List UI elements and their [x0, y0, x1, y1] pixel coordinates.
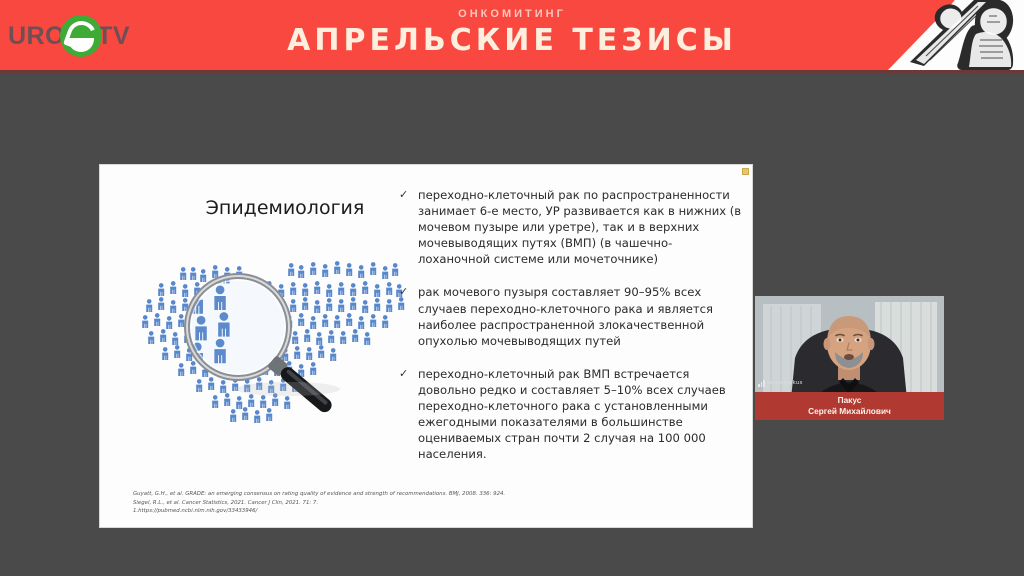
- connection-stats: sergeipakus: [758, 380, 803, 387]
- reference-line: Guyatt, G.H., et al. GRADE: an emerging …: [133, 490, 693, 498]
- bullet-text: переходно-клеточный рак ВМП встречается …: [418, 366, 742, 463]
- event-title: АПРЕЛЬСКИЕ ТЕЗИСЫ: [0, 24, 1024, 57]
- reference-line: Siegel, R.L., et al. Cancer Statistics, …: [133, 499, 693, 507]
- bullet-text: переходно-клеточный рак по распространен…: [418, 187, 742, 267]
- event-kicker: ОНКОМИТИНГ: [0, 8, 1024, 21]
- signal-bars-icon: [758, 380, 765, 387]
- slide-references: Guyatt, G.H., et al. GRADE: an emerging …: [133, 490, 693, 515]
- bullet-item: ✓ рак мочевого пузыря составляет 90–95% …: [397, 284, 742, 348]
- resize-handle-icon[interactable]: [742, 168, 749, 175]
- bullet-item: ✓ переходно-клеточный рак по распростран…: [397, 187, 742, 267]
- event-title-group: ОНКОМИТИНГ АПРЕЛЬСКИЕ ТЕЗИСЫ: [0, 8, 1024, 57]
- constructivist-worker-icon: [880, 0, 1024, 70]
- speaker-video-tile[interactable]: sergeipakus Пакус Сергей Михайлович: [755, 296, 944, 420]
- checkmark-icon: ✓: [399, 285, 408, 299]
- speaker-username: sergeipakus: [767, 380, 803, 387]
- speaker-surname: Пакус: [838, 395, 862, 406]
- presentation-slide[interactable]: Эпидемиология: [100, 165, 752, 527]
- slide-title: Эпидемиология: [160, 197, 410, 219]
- speaker-given-name: Сергей Михайлович: [808, 406, 891, 417]
- crowd-magnifier-icon: [138, 253, 410, 423]
- webinar-stage: URO TV ОНКОМИТИНГ АПРЕЛЬСКИЕ ТЕЗИСЫ: [0, 0, 1024, 576]
- checkmark-icon: ✓: [399, 188, 408, 202]
- header-divider: [0, 70, 1024, 73]
- bullet-item: ✓ переходно-клеточный рак ВМП встречаетс…: [397, 366, 742, 463]
- bullet-text: рак мочевого пузыря составляет 90–95% вс…: [418, 284, 742, 348]
- event-header-bar: URO TV ОНКОМИТИНГ АПРЕЛЬСКИЕ ТЕЗИСЫ: [0, 0, 1024, 70]
- reference-line: 1.https://pubmed.ncbi.nlm.nih.gov/334339…: [133, 507, 693, 515]
- speaker-name-badge: Пакус Сергей Михайлович: [755, 392, 944, 420]
- checkmark-icon: ✓: [399, 367, 408, 381]
- slide-bullet-list: ✓ переходно-клеточный рак по распростран…: [397, 187, 742, 479]
